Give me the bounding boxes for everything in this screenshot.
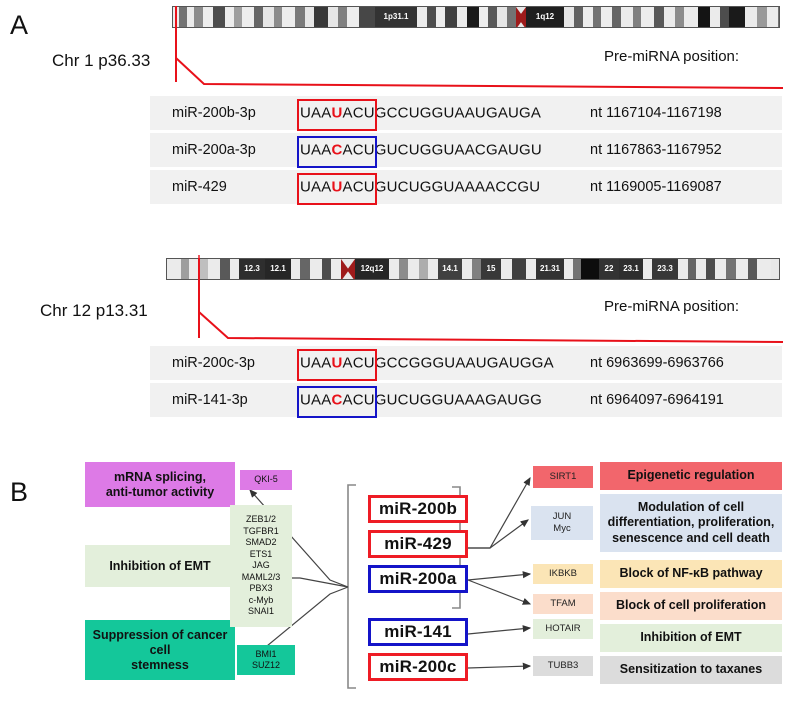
ideogram-band <box>488 7 497 27</box>
ideogram-band-22: 22 <box>599 259 619 279</box>
ideogram-band <box>427 7 436 27</box>
premirna-position: nt 1167104-1167198 <box>590 105 722 121</box>
ideogram-band <box>314 7 328 27</box>
tubb3-target: TUBB3 <box>533 656 593 676</box>
ideogram-band-label: 23.3 <box>657 265 673 273</box>
gene-label: BMI1 <box>255 649 276 661</box>
epigenetic-regulation: Epigenetic regulation <box>600 462 782 490</box>
seq-tail: CUGGUAAUGAUGA <box>398 105 541 122</box>
ikbkb-target: IKBKB <box>533 564 593 584</box>
ideogram-band-12.1: 12.1 <box>265 259 291 279</box>
centromere <box>516 7 526 27</box>
target-gene-label: JUN <box>553 511 571 523</box>
mirna-box-label: miR-429 <box>384 534 452 554</box>
ideogram-band <box>203 7 213 27</box>
ideogram-band <box>501 259 512 279</box>
sequence-row: miR-200b-3pUAAUACUGCCUGGUAAUGAUGAnt 1167… <box>150 96 782 130</box>
target-gene-label: Myc <box>553 523 570 535</box>
ideogram-band <box>274 7 282 27</box>
ideogram-band <box>213 7 225 27</box>
ideogram-band-14.1: 14.1 <box>438 259 462 279</box>
ideogram-band <box>748 259 757 279</box>
ideogram-band <box>729 7 745 27</box>
ideogram-band <box>187 7 194 27</box>
ideogram-band <box>295 7 305 27</box>
premirna-position: nt 6963699-6963766 <box>590 355 724 371</box>
gene-label: SNAI1 <box>248 606 274 618</box>
chr1-sequence-table: miR-200b-3pUAAUACUGCCUGGUAAUGAUGAnt 1167… <box>150 96 782 207</box>
ideogram-band <box>507 7 516 27</box>
ideogram-band-label: 12.3 <box>244 265 260 273</box>
seed-region-box-red <box>297 349 377 381</box>
chromosome-1-ideogram: 1p31.11q12q414344 <box>172 6 780 28</box>
ideogram-band <box>564 259 573 279</box>
ideogram-band <box>745 7 757 27</box>
ideogram-band <box>359 7 375 27</box>
ideogram-band <box>581 259 599 279</box>
ideogram-band-12q12: 12q12 <box>355 259 389 279</box>
mirna-name: miR-141-3p <box>172 392 248 408</box>
left-function-box-0: mRNA splicing,anti-tumor activity <box>85 462 235 507</box>
sirt1-target: SIRT1 <box>533 466 593 488</box>
ideogram-band <box>291 259 300 279</box>
ideogram-band <box>696 259 706 279</box>
seed-region-box-blue <box>297 136 377 168</box>
premirna-position: nt 1169005-1169087 <box>590 179 722 195</box>
ideogram-band <box>643 259 652 279</box>
ideogram-band <box>419 259 428 279</box>
ideogram-band <box>757 259 771 279</box>
mirna-box-mir-141[interactable]: miR-141 <box>368 618 468 646</box>
mirna-box-mir-200b[interactable]: miR-200b <box>368 495 468 523</box>
seq-tail: CUGGUAAAGAUGG <box>398 392 542 409</box>
mirna-box-mir-429[interactable]: miR-429 <box>368 530 468 558</box>
mirna-box-label: miR-141 <box>384 622 452 642</box>
ideogram-band <box>408 259 419 279</box>
ideogram-band <box>512 259 526 279</box>
sequence-row: miR-200c-3pUAAUACUGCCGGGUAAUGAUGGAnt 696… <box>150 346 782 380</box>
ideogram-band <box>583 7 593 27</box>
sequence-row: miR-200a-3pUAACACUGUCUGGUAACGAUGUnt 1167… <box>150 133 782 167</box>
ideogram-band <box>389 259 399 279</box>
ideogram-band <box>706 259 715 279</box>
mirna-box-mir-200c[interactable]: miR-200c <box>368 653 468 681</box>
ideogram-band <box>654 7 664 27</box>
ideogram-band <box>593 7 601 27</box>
ideogram-band <box>399 259 408 279</box>
seq-tail: CUGGUAAAACCGU <box>398 179 541 196</box>
ideogram-band <box>310 259 322 279</box>
ideogram-band <box>225 7 234 27</box>
ideogram-band <box>720 7 729 27</box>
ideogram-band <box>612 7 621 27</box>
premirna-position: nt 6964097-6964191 <box>590 392 724 408</box>
ideogram-band <box>526 259 536 279</box>
ideogram-band <box>300 259 310 279</box>
seed-region-box-red <box>297 173 377 205</box>
sequence-row: miR-141-3pUAACACUGUCUGGUAAAGAUGGnt 69640… <box>150 383 782 417</box>
target-gene-label: SIRT1 <box>550 471 577 483</box>
left-function-label: Suppression of cancer cellstemness <box>85 628 235 673</box>
target-gene-label: TUBB3 <box>548 660 579 672</box>
ideogram-band-23.1: 23.1 <box>619 259 643 279</box>
junmyc-target: JUNMyc <box>531 506 593 540</box>
right-function-label: Block of NF-κB pathway <box>619 566 762 582</box>
emt-gene-box: ZEB1/2TGFBR1SMAD2ETS1JAGMAML2/3PBX3c-Myb… <box>230 505 292 627</box>
chr12-sequence-table: miR-200c-3pUAAUACUGCCGGGUAAUGAUGGAnt 696… <box>150 346 782 420</box>
sensitization-taxanes: Sensitization to taxanes <box>600 656 782 684</box>
ideogram-band-1q12: 1q12 <box>526 7 564 27</box>
ideogram-band <box>282 7 295 27</box>
mirna-box-label: miR-200b <box>379 499 457 519</box>
target-gene-label: IKBKB <box>549 568 577 580</box>
left-function-box-2: Suppression of cancer cellstemness <box>85 620 235 680</box>
seq-tail: CUGGUAACGAUGU <box>398 142 542 159</box>
ideogram-band <box>462 259 472 279</box>
ideogram-band <box>445 7 457 27</box>
tfam-target: TFAM <box>533 594 593 614</box>
gene-label: ETS1 <box>250 549 273 561</box>
ideogram-band <box>181 259 189 279</box>
gene-label: QKI-5 <box>254 474 278 486</box>
ideogram-band-label: 15 <box>487 265 496 273</box>
ideogram-band-label: 12q12 <box>361 265 384 273</box>
chr1-label: Chr 1 p36.33 <box>52 51 150 71</box>
mirna-box-label: miR-200c <box>379 657 456 677</box>
ideogram-band <box>328 7 338 27</box>
ideogram-band <box>621 7 633 27</box>
ideogram-band <box>331 259 341 279</box>
ideogram-band <box>698 7 710 27</box>
ideogram-band <box>305 7 314 27</box>
left-function-box-1: Inhibition of EMT <box>85 545 235 587</box>
chromosome-12-ideogram: 12.312.112q1214.11521.312223.123.3 <box>166 258 780 280</box>
ideogram-band <box>167 259 181 279</box>
ideogram-band <box>472 259 481 279</box>
chr1-premirna-position-header: Pre-miRNA position: <box>604 48 739 65</box>
block-nfkb: Block of NF-κB pathway <box>600 560 782 588</box>
target-gene-label: HOTAIR <box>545 623 580 635</box>
ideogram-band <box>757 7 767 27</box>
ideogram-band <box>675 7 684 27</box>
ideogram-band <box>633 7 641 27</box>
chr12-pointer-vertical <box>198 258 200 338</box>
ideogram-band <box>338 7 347 27</box>
gene-label: SMAD2 <box>245 537 276 549</box>
ideogram-band <box>254 7 263 27</box>
ideogram-band-1p31.1: 1p31.1 <box>375 7 417 27</box>
inhibition-emt-right: Inhibition of EMT <box>600 624 782 652</box>
ideogram-band-12.3: 12.3 <box>239 259 265 279</box>
ideogram-band <box>601 7 612 27</box>
ideogram-band <box>574 7 583 27</box>
ideogram-band-label: 22 <box>605 265 614 273</box>
ideogram-band <box>428 259 438 279</box>
ideogram-band <box>664 7 675 27</box>
ideogram-band <box>688 259 696 279</box>
ideogram-band-label: 21.31 <box>540 265 560 273</box>
ideogram-band-21.31: 21.31 <box>536 259 564 279</box>
ideogram-band-label: 1p31.1 <box>384 13 409 21</box>
mirna-name: miR-200b-3p <box>172 105 256 121</box>
mirna-box-label: miR-200a <box>379 569 456 589</box>
stemness-gene-box: BMI1SUZ12 <box>237 645 295 675</box>
block-proliferation: Block of cell proliferation <box>600 592 782 620</box>
ideogram-band <box>347 7 359 27</box>
chr1-pointer-vertical <box>175 6 177 82</box>
ideogram-band <box>234 7 242 27</box>
ideogram-band <box>199 259 208 279</box>
ideogram-band <box>573 259 581 279</box>
mirna-name: miR-200c-3p <box>172 355 255 371</box>
target-gene-label: TFAM <box>550 598 575 610</box>
gene-label: MAML2/3 <box>242 572 281 584</box>
hotair-target: HOTAIR <box>533 619 593 639</box>
right-function-label: Modulation of celldifferentiation, proli… <box>608 500 775 547</box>
panel-b-letter: B <box>10 477 28 508</box>
panel-a-letter: A <box>10 10 28 41</box>
ideogram-band <box>467 7 479 27</box>
gene-label: c-Myb <box>249 595 274 607</box>
ideogram-band <box>194 7 203 27</box>
ideogram-band <box>322 259 331 279</box>
right-function-label: Sensitization to taxanes <box>620 662 762 678</box>
ideogram-band-label: 14.1 <box>442 265 458 273</box>
ideogram-band-23.3: 23.3 <box>652 259 678 279</box>
ideogram-band <box>736 259 748 279</box>
chr12-label: Chr 12 p13.31 <box>40 301 148 321</box>
ideogram-band-label: 23.1 <box>623 265 639 273</box>
left-function-label: Inhibition of EMT <box>109 559 210 574</box>
ideogram-band <box>220 259 230 279</box>
ideogram-band <box>715 259 726 279</box>
ideogram-band <box>497 7 507 27</box>
ideogram-band <box>778 7 780 27</box>
ideogram-band <box>179 7 187 27</box>
ideogram-band <box>230 259 239 279</box>
right-function-label: Inhibition of EMT <box>640 630 741 646</box>
seq-tail: CGGGUAAUGAUGGA <box>398 355 554 372</box>
mirna-name: miR-200a-3p <box>172 142 256 158</box>
ideogram-band <box>208 259 220 279</box>
ideogram-band <box>726 259 736 279</box>
mirna-name: miR-429 <box>172 179 227 195</box>
ideogram-band-15: 15 <box>481 259 501 279</box>
centromere <box>341 259 355 279</box>
modulation-of-cell: Modulation of celldifferentiation, proli… <box>600 494 782 552</box>
gene-label: JAG <box>252 560 270 572</box>
ideogram-band <box>436 7 445 27</box>
ideogram-band <box>263 7 274 27</box>
right-function-label: Block of cell proliferation <box>616 598 766 614</box>
gene-label: ZEB1/2 <box>246 514 276 526</box>
ideogram-band <box>564 7 574 27</box>
seed-region-box-blue <box>297 386 377 418</box>
ideogram-band <box>710 7 720 27</box>
sequence-row: miR-429UAAUACUGUCUGGUAAAACCGUnt 1169005-… <box>150 170 782 204</box>
gene-label: TGFBR1 <box>243 526 279 538</box>
seed-region-box-red <box>297 99 377 131</box>
left-function-label: mRNA splicing,anti-tumor activity <box>106 470 214 500</box>
gene-label: PBX3 <box>249 583 272 595</box>
ideogram-band <box>684 7 698 27</box>
ideogram-band <box>641 7 654 27</box>
ideogram-band <box>479 7 488 27</box>
premirna-position: nt 1167863-1167952 <box>590 142 722 158</box>
chr12-premirna-position-header: Pre-miRNA position: <box>604 298 739 315</box>
ideogram-band <box>457 7 467 27</box>
ideogram-band <box>417 7 427 27</box>
ideogram-band <box>678 259 688 279</box>
ideogram-band <box>767 7 778 27</box>
gene-label: SUZ12 <box>252 660 280 672</box>
ideogram-band <box>242 7 254 27</box>
right-function-label: Epigenetic regulation <box>627 468 754 484</box>
ideogram-band-label: 1q12 <box>536 13 554 21</box>
qki-5-gene-box: QKI-5 <box>240 470 292 490</box>
ideogram-band-label: 12.1 <box>270 265 286 273</box>
mirna-box-mir-200a[interactable]: miR-200a <box>368 565 468 593</box>
